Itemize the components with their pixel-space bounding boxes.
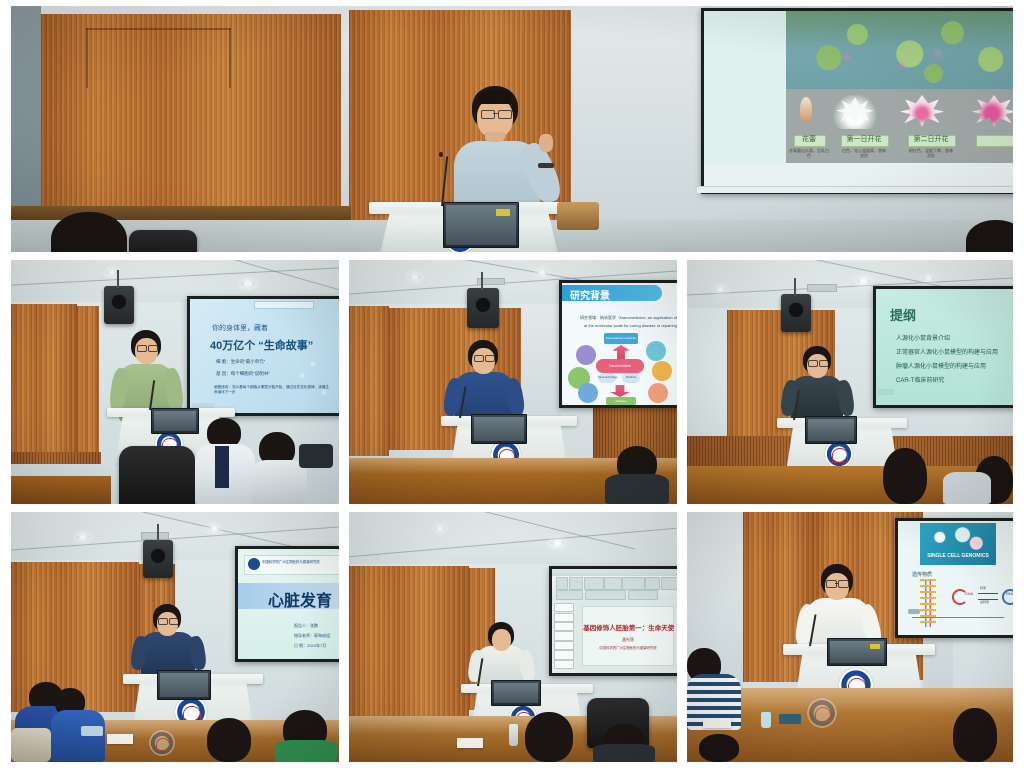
slide-sublabel-day1: 白色，花心温度高，香味浓烈: [842, 148, 886, 158]
slide-bullet-1: 人源化小鼠背景介绍: [896, 333, 950, 342]
slide-org: 中国科学院广州生物医药与健康研究院: [583, 645, 672, 650]
slide-pond-photo: [786, 11, 1013, 89]
slide-title: 提纲: [890, 305, 916, 324]
slide-thumbnail-pane[interactable]: [552, 600, 575, 673]
arrow-label-top: 转录: [980, 586, 986, 590]
slide-label-day1: 第一日开花: [841, 135, 887, 145]
projection-screen: 你的身体里，藏着 40万亿个 “生命故事” 细 胞：生命的“最小单元” 基 因：…: [187, 296, 339, 416]
slide-meta-2: 指导老师：郭海成组: [294, 633, 330, 639]
wall-loudspeaker: [781, 294, 811, 332]
slide-research-background: 研究背景 研究领域：纳米医学（Nanomedicine, an applicat…: [562, 283, 677, 405]
slide-thumbnail[interactable]: [554, 603, 573, 612]
slide-thumbnail[interactable]: [554, 613, 573, 622]
slide-body-en: at the molecular scale for curing diseas…: [584, 323, 677, 328]
slide-body-cn: 研究领域：纳米医学（Nanomedicine, an application o…: [580, 315, 677, 321]
water-bottle: [509, 724, 518, 746]
dna-helix-icon: [920, 579, 936, 627]
slide-bullet-4: CAR-T临床前研究: [896, 375, 944, 384]
arrow-label-bottom: 逆转录: [980, 600, 989, 604]
backpack: [11, 728, 51, 762]
audience-head: [953, 708, 997, 762]
slide-author: 潘光锦: [583, 637, 672, 643]
slide-label-bud: 花蕾: [796, 135, 822, 145]
collage-panel-r3c1: 中国科学院广州生物医药与健康研究院 心脏发育 报告人：张鹏 指导老师：郭海成组 …: [11, 512, 339, 762]
collage-panel-r3c3: SINGLE CELL GENOMICS 遗传物质 DNA 转录 逆转录 RNA: [687, 512, 1013, 762]
collage-panel-r2c2: 研究背景 研究领域：纳米医学（Nanomedicine, an applicat…: [349, 260, 677, 504]
slide-bullet-1: 细 胞：生命的“最小单元”: [216, 359, 265, 365]
slide-title: 研究背景: [570, 287, 610, 302]
projection-screen: 研究背景 研究领域：纳米医学（Nanomedicine, an applicat…: [559, 280, 677, 408]
dna-label: DNA: [965, 591, 973, 596]
collage-panel-r2c1: 你的身体里，藏着 40万亿个 “生命故事” 细 胞：生命的“最小单元” 基 因：…: [11, 260, 339, 504]
podium-laptop: [443, 202, 519, 248]
projection-screen: 花蕾 第一日开花 第二日开花 花萼露出水面，呈乳白色 白色，花心温度高，香味浓烈…: [701, 8, 1013, 194]
collage-panel-r2c3: 提纲 人源化小鼠背景介绍 正常器官人源化小鼠模型的构建与应用 肿瘤人源化小鼠模型…: [687, 260, 1013, 504]
collage-panel-top: 花蕾 第一日开花 第二日开花 花萼露出水面，呈乳白色 白色，花心温度高，香味浓烈…: [11, 6, 1013, 252]
slide-title: 基因修饰人胚胎第一：生命天使: [583, 622, 672, 632]
slide-sublabel-bud: 花萼露出水面，呈乳白色: [788, 148, 830, 158]
slide-sublabel-day2: 粉红色，温度下降，香味消失: [909, 148, 953, 158]
audience-chair: [129, 230, 197, 252]
projection-screen: 中国科学院广州生物医药与健康研究院 心脏发育 报告人：张鹏 指导老师：郭海成组 …: [235, 546, 339, 662]
slide-bullet-2: 正常器官人源化小鼠模型的构建与应用: [896, 347, 998, 356]
diagram-node: Nano-technology: [598, 373, 616, 383]
collage-panel-r3c2: 基因修饰人胚胎第一：生命天使 潘光锦 中国科学院广州生物医药与健康研究院: [349, 512, 677, 762]
slide-banner-text: SINGLE CELL GENOMICS: [920, 553, 996, 559]
projection-screen: 基因修饰人胚胎第一：生命天使 潘光锦 中国科学院广州生物医药与健康研究院: [549, 566, 677, 676]
wall-loudspeaker: [467, 288, 499, 328]
slide-section-label: 遗传物质: [912, 571, 932, 578]
slide-heart-development: 中国科学院广州生物医药与健康研究院 心脏发育 报告人：张鹏 指导老师：郭海成组 …: [238, 549, 339, 659]
diagram-node: Personalized medicine: [604, 334, 638, 343]
audience-head: [699, 734, 739, 762]
ppt-active-slide[interactable]: 基因修饰人胚胎第一：生命天使 潘光锦 中国科学院广州生物医药与健康研究院: [582, 606, 673, 666]
slide-label-day2: 第二日开花: [908, 135, 954, 145]
slide-thumbnail[interactable]: [554, 631, 573, 640]
slide-thumbnail[interactable]: [554, 622, 573, 631]
slide-bullet-2: 基 因：每个细胞的“说明书”: [216, 371, 270, 377]
photo-collage: 花蕾 第一日开花 第二日开花 花萼露出水面，呈乳白色 白色，花心温度高，香味浓烈…: [0, 0, 1024, 768]
slide-meta-3: 日 期：2024年7月: [294, 643, 326, 649]
diagram-node: Disease: [606, 397, 636, 405]
wall-loudspeaker: [104, 286, 134, 324]
powerpoint-window: 基因修饰人胚胎第一：生命天使 潘光锦 中国科学院广州生物医药与健康研究院: [552, 569, 677, 673]
slide-life-story: 你的身体里，藏着 40万亿个 “生命故事” 细 胞：生命的“最小单元” 基 因：…: [190, 299, 339, 413]
rna-label: RNA: [1006, 591, 1013, 596]
audience-head: [525, 712, 573, 762]
slide-thumbnail[interactable]: [554, 660, 573, 669]
speaker-glasses: [838, 580, 849, 588]
slide-org: 中国科学院广州生物医药与健康研究院: [262, 559, 320, 564]
slide-bullet-3: 肿瘤人源化小鼠模型的构建与应用: [896, 361, 986, 370]
student-head: [207, 718, 251, 762]
speaker-glasses: [826, 580, 837, 588]
audience-head: [883, 448, 927, 504]
slide-meta-1: 报告人：张鹏: [294, 623, 318, 629]
wall-loudspeaker: [143, 540, 173, 578]
audience-chair: [119, 446, 195, 504]
slide-title: 心脏发育: [268, 587, 332, 611]
water-bottle: [761, 712, 771, 728]
projection-screen: 提纲 人源化小鼠背景介绍 正常器官人源化小鼠模型的构建与应用 肿瘤人源化小鼠模型…: [873, 286, 1013, 408]
speaker-hand: [539, 134, 553, 152]
slide-outline: 提纲 人源化小鼠背景介绍 正常器官人源化小鼠模型的构建与应用 肿瘤人源化小鼠模型…: [876, 289, 1013, 405]
slide-thumbnail[interactable]: [554, 641, 573, 650]
projection-screen: SINGLE CELL GENOMICS 遗传物质 DNA 转录 逆转录 RNA: [895, 518, 1013, 638]
slide-thumbnail[interactable]: [554, 650, 573, 659]
diagram-node: Medicine: [622, 373, 640, 383]
slide-line-1: 你的身体里，藏着: [212, 323, 268, 333]
diagram-center-node: Nanomedicine: [596, 360, 644, 372]
slide-line-2: 40万亿个 “生命故事”: [210, 337, 313, 353]
slide-genomics: SINGLE CELL GENOMICS 遗传物质 DNA 转录 逆转录 RNA: [898, 521, 1013, 635]
